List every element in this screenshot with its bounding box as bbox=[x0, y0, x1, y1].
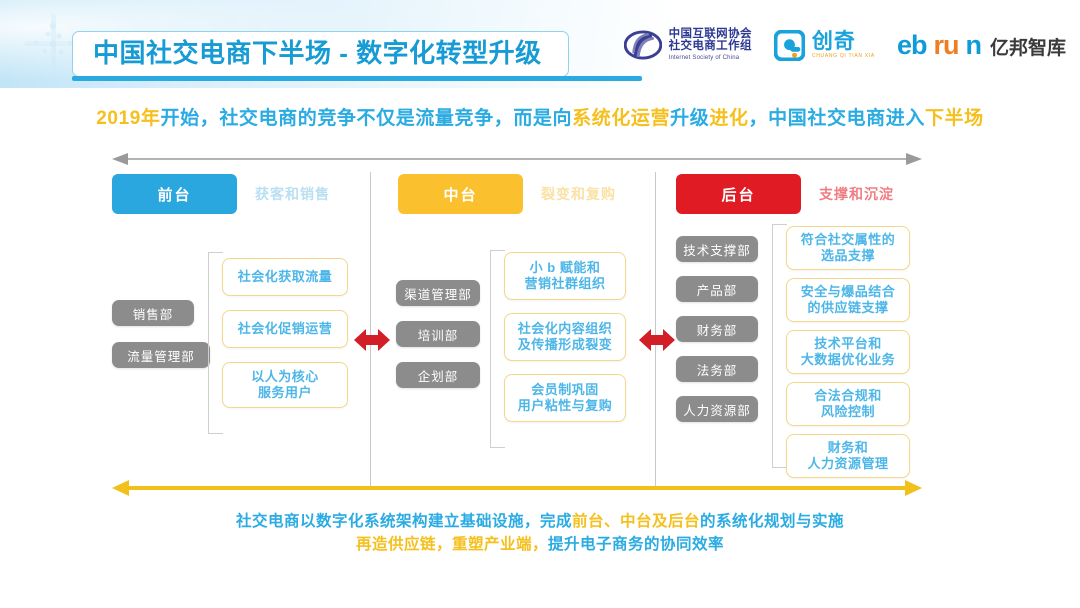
dept-list-back: 技术支撑部 产品部 财务部 法务部 人力资源部 bbox=[676, 236, 758, 422]
practice-card: 技术平台和 大数据优化业务 bbox=[786, 330, 910, 374]
card-line: 营销社群组织 bbox=[524, 276, 605, 292]
card-line: 选品支撑 bbox=[821, 248, 875, 264]
footer-line1-segment-1: 前台、中台及后台 bbox=[572, 513, 700, 530]
dept-chip: 销售部 bbox=[112, 300, 194, 326]
isc-logo-icon bbox=[624, 26, 662, 64]
chuangqi-logo-cn: 创奇 bbox=[812, 31, 875, 52]
timeline-arrow-bottom-icon bbox=[112, 478, 922, 498]
card-line: 小 b 赋能和 bbox=[530, 260, 601, 276]
card-line: 人力资源管理 bbox=[807, 456, 888, 472]
dept-chip: 人力资源部 bbox=[676, 396, 758, 422]
subtitle-segment-4: 进化 bbox=[709, 108, 748, 129]
dept-chip: 流量管理部 bbox=[112, 342, 210, 368]
footer-line2-segment-0: 再造供应链，重塑产业端， bbox=[356, 536, 548, 553]
dept-chip: 产品部 bbox=[676, 276, 758, 302]
column-front-header: 前台 获客和销售 bbox=[112, 174, 412, 214]
card-line: 风险控制 bbox=[821, 404, 875, 420]
isc-logo-en: Internet Society of China bbox=[669, 55, 752, 61]
page-title-pill: 中国社交电商下半场 - 数字化转型升级 bbox=[72, 31, 569, 77]
subtitle-segment-0: 2019年 bbox=[96, 108, 160, 129]
subtitle-segment-6: 下半场 bbox=[925, 108, 984, 129]
practice-card: 小 b 赋能和 营销社群组织 bbox=[504, 252, 626, 300]
footer-summary: 社交电商以数字化系统架构建立基础设施，完成前台、中台及后台的系统化规划与实施 再… bbox=[0, 510, 1080, 556]
logo-group: 中国互联网协会 社交电商工作组 Internet Society of Chin… bbox=[624, 22, 1066, 68]
subtitle-segment-2: 系统化运营 bbox=[572, 108, 670, 129]
column-middle-header: 中台 裂变和复购 bbox=[398, 174, 698, 214]
card-line: 用户粘性与复购 bbox=[518, 398, 613, 414]
column-back: 后台 支撑和沉淀 bbox=[676, 174, 976, 214]
card-line: 技术平台和 bbox=[814, 336, 882, 352]
chuangqi-logo-en: CHUANG QI TIAN XIA bbox=[812, 54, 875, 59]
bracket-back bbox=[772, 224, 787, 468]
logo-isc: 中国互联网协会 社交电商工作组 Internet Society of Chin… bbox=[624, 26, 752, 64]
practice-card: 社会化内容组织 及传播形成裂变 bbox=[504, 313, 626, 361]
card-line: 大数据优化业务 bbox=[801, 352, 896, 368]
subtitle-segment-1: 开始，社交电商的竞争不仅是流量竞争，而是向 bbox=[161, 108, 573, 129]
column-front: 前台 获客和销售 bbox=[112, 174, 412, 214]
dept-chip: 培训部 bbox=[396, 321, 480, 347]
card-list-middle: 小 b 赋能和 营销社群组织 社会化内容组织 及传播形成裂变 会员制巩固 用户粘… bbox=[504, 252, 626, 422]
card-line: 会员制巩固 bbox=[531, 382, 599, 398]
dept-chip: 财务部 bbox=[676, 316, 758, 342]
card-list-front: 社会化获取流量 社会化促销运营 以人为核心 服务用户 bbox=[222, 258, 348, 408]
practice-card: 符合社交属性的 选品支撑 bbox=[786, 226, 910, 270]
dept-list-middle: 渠道管理部 培训部 企划部 bbox=[396, 280, 480, 388]
card-line: 的供应链支撑 bbox=[807, 300, 888, 316]
card-list-back: 符合社交属性的 选品支撑 安全与爆品结合 的供应链支撑 技术平台和 大数据优化业… bbox=[786, 226, 910, 478]
practice-card: 会员制巩固 用户粘性与复购 bbox=[504, 374, 626, 422]
column-back-tag: 后台 bbox=[676, 174, 801, 214]
footer-line-1: 社交电商以数字化系统架构建立基础设施，完成前台、中台及后台的系统化规划与实施 bbox=[0, 510, 1080, 533]
column-back-header: 后台 支撑和沉淀 bbox=[676, 174, 976, 214]
dept-list-front: 销售部 流量管理部 bbox=[112, 300, 210, 368]
footer-line1-segment-0: 社交电商以数字化系统架构建立基础设施，完成 bbox=[236, 513, 572, 530]
card-line: 财务和 bbox=[828, 440, 869, 456]
logo-chuangqi: 创奇 CHUANG QI TIAN XIA bbox=[774, 30, 875, 61]
page-title: 中国社交电商下半场 - 数字化转型升级 bbox=[93, 38, 542, 68]
column-middle: 中台 裂变和复购 bbox=[398, 174, 698, 214]
subtitle-segment-5: ，中国社交电商进入 bbox=[749, 108, 925, 129]
subtitle: 2019年开始，社交电商的竞争不仅是流量竞争，而是向系统化运营升级进化，中国社交… bbox=[0, 103, 1080, 130]
timeline-arrow-top-icon bbox=[112, 150, 922, 168]
card-line: 以人为核心 bbox=[251, 369, 319, 385]
subtitle-segment-3: 升级 bbox=[670, 108, 709, 129]
footer-line1-segment-2: 的系统化规划与实施 bbox=[700, 513, 844, 530]
ebrun-logo-part2: ru bbox=[933, 30, 958, 61]
practice-card: 合法合规和 风险控制 bbox=[786, 382, 910, 426]
connector-arrow-2-icon bbox=[637, 325, 677, 355]
chuangqi-logo-icon bbox=[774, 30, 805, 61]
practice-card: 财务和 人力资源管理 bbox=[786, 434, 910, 478]
title-underline bbox=[72, 76, 642, 81]
bracket-front bbox=[208, 252, 223, 434]
page-title-container: 中国社交电商下半场 - 数字化转型升级 bbox=[72, 31, 569, 77]
card-line: 服务用户 bbox=[258, 385, 312, 401]
logo-ebrun: eb ru n 亿邦智库 bbox=[897, 30, 1066, 61]
bracket-middle bbox=[490, 250, 505, 448]
dept-chip: 企划部 bbox=[396, 362, 480, 388]
ebrun-logo-cn: 亿邦智库 bbox=[990, 33, 1066, 60]
isc-logo-cn-line2: 社交电商工作组 bbox=[669, 41, 752, 53]
practice-card: 安全与爆品结合 的供应链支撑 bbox=[786, 278, 910, 322]
card-line: 社会化促销运营 bbox=[238, 321, 333, 337]
diagram: 前台 获客和销售 销售部 流量管理部 社会化获取流量 社会化促销运营 以人为核心… bbox=[0, 140, 1080, 490]
practice-card: 社会化促销运营 bbox=[222, 310, 348, 348]
card-line: 社会化内容组织 bbox=[518, 321, 613, 337]
column-middle-note: 裂变和复购 bbox=[541, 184, 616, 204]
footer-line2-segment-1: 提升电子商务的协同效率 bbox=[548, 536, 724, 553]
dept-chip: 渠道管理部 bbox=[396, 280, 480, 306]
slide-root: 中国社交电商下半场 - 数字化转型升级 中国互联网协会 社交电商工作组 Inte… bbox=[0, 0, 1080, 608]
card-line: 社会化获取流量 bbox=[238, 269, 333, 285]
column-back-note: 支撑和沉淀 bbox=[819, 184, 894, 204]
ebrun-logo-part3: n bbox=[965, 30, 981, 61]
connector-arrow-1-icon bbox=[352, 325, 392, 355]
card-line: 及传播形成裂变 bbox=[518, 337, 613, 353]
ebrun-logo-part1: eb bbox=[897, 30, 927, 61]
practice-card: 以人为核心 服务用户 bbox=[222, 362, 348, 408]
card-line: 安全与爆品结合 bbox=[801, 284, 896, 300]
dept-chip: 技术支撑部 bbox=[676, 236, 758, 262]
column-front-tag: 前台 bbox=[112, 174, 237, 214]
practice-card: 社会化获取流量 bbox=[222, 258, 348, 296]
column-middle-tag: 中台 bbox=[398, 174, 523, 214]
card-line: 符合社交属性的 bbox=[801, 232, 896, 248]
column-front-note: 获客和销售 bbox=[255, 184, 330, 204]
footer-line-2: 再造供应链，重塑产业端，提升电子商务的协同效率 bbox=[0, 533, 1080, 556]
dept-chip: 法务部 bbox=[676, 356, 758, 382]
card-line: 合法合规和 bbox=[814, 388, 882, 404]
